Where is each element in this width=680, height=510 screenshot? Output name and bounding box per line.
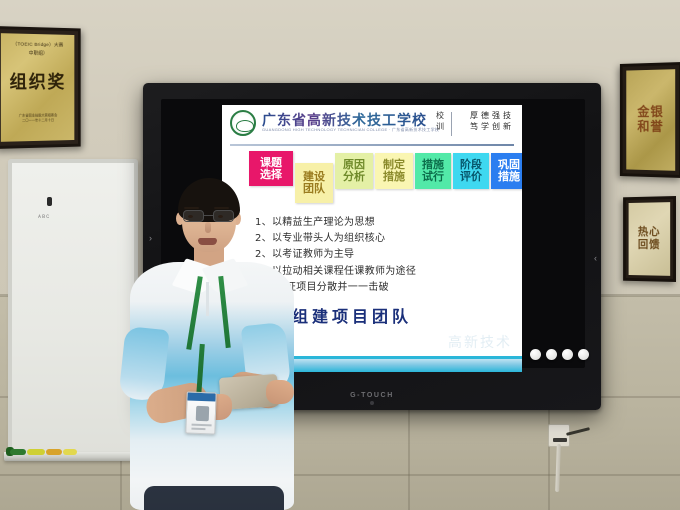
scene-root: （TOEIC Bridge）大赛 中职组） 组织奖 广东省职业技能大赛组委会 二… bbox=[0, 0, 680, 510]
presenter-nose bbox=[205, 222, 211, 233]
process-box-7: 巩固措施 bbox=[491, 153, 522, 189]
plaque-right-bottom-text: 热心 回馈 bbox=[638, 226, 661, 252]
school-logo-icon bbox=[230, 110, 256, 136]
tile-line bbox=[0, 474, 680, 476]
display-control-buttons[interactable] bbox=[530, 349, 589, 360]
power-led-icon bbox=[370, 401, 374, 405]
slide-title: 组建项目团队 bbox=[292, 303, 412, 327]
slide-watermark: 高新技术 bbox=[448, 332, 512, 352]
school-name-subtitle: GUANGDONG HIGH TECHNOLOGY TECHNICIAN COL… bbox=[262, 127, 439, 133]
award-plaque-left: （TOEIC Bridge）大赛 中职组） 组织奖 广东省职业技能大赛组委会 二… bbox=[0, 26, 81, 149]
plaque-left-footer: 广东省职业技能大赛组委会 二〇一一年十二月十日 bbox=[19, 113, 57, 124]
presenter-hand-right bbox=[266, 380, 294, 404]
presenter-eye-right bbox=[218, 215, 223, 218]
process-box-3: 原因分析 bbox=[335, 153, 373, 189]
display-control-button[interactable] bbox=[530, 349, 541, 360]
presenter-shirt-placket bbox=[206, 282, 209, 316]
display-control-button[interactable] bbox=[578, 349, 589, 360]
presenter-eyebrow-left bbox=[184, 207, 199, 209]
plaque-left-line1: （TOEIC Bridge）大赛 bbox=[12, 41, 63, 49]
award-plaque-right-top: 金银 和誉 bbox=[620, 62, 680, 178]
presenter-eye-left bbox=[188, 215, 193, 218]
marker-orange bbox=[46, 449, 62, 455]
marker-yellow bbox=[27, 449, 45, 455]
display-control-button[interactable] bbox=[562, 349, 573, 360]
display-control-button[interactable] bbox=[546, 349, 557, 360]
plaque-left-line2: 中职组） bbox=[29, 50, 48, 57]
plaque-right-top-text: 金银 和誉 bbox=[637, 105, 663, 135]
whiteboard-scribble: ᴀʙᴄ bbox=[38, 214, 50, 220]
marker-yellow-light bbox=[63, 449, 77, 455]
header-rule bbox=[230, 144, 514, 146]
process-box-5: 措施试行 bbox=[415, 153, 451, 189]
plaque-left-headline: 组织奖 bbox=[10, 68, 67, 94]
presenter-mouth bbox=[198, 238, 217, 245]
slide-header: 广东省高新技术技工学校 GUANGDONG HIGH TECHNOLOGY TE… bbox=[222, 105, 522, 147]
whiteboard-magnet bbox=[47, 197, 52, 206]
process-box-4: 制定措施 bbox=[375, 153, 413, 189]
marker-green bbox=[10, 449, 26, 455]
id-badge bbox=[185, 391, 216, 434]
motto-text: 厚德强技 笃学创新 bbox=[470, 111, 514, 133]
process-box-6: 阶段评价 bbox=[453, 153, 489, 189]
presenter-trousers bbox=[144, 486, 284, 510]
bezel-indicator-right: ‹ bbox=[594, 253, 597, 263]
presenter-eyebrow-right bbox=[214, 207, 229, 209]
presenter-person bbox=[118, 178, 308, 510]
motto-label: 校 训 bbox=[436, 111, 444, 133]
motto-divider bbox=[451, 112, 452, 136]
display-brand-logo: G-TOUCH bbox=[350, 392, 394, 399]
award-plaque-right-bottom: 热心 回馈 bbox=[623, 196, 676, 282]
